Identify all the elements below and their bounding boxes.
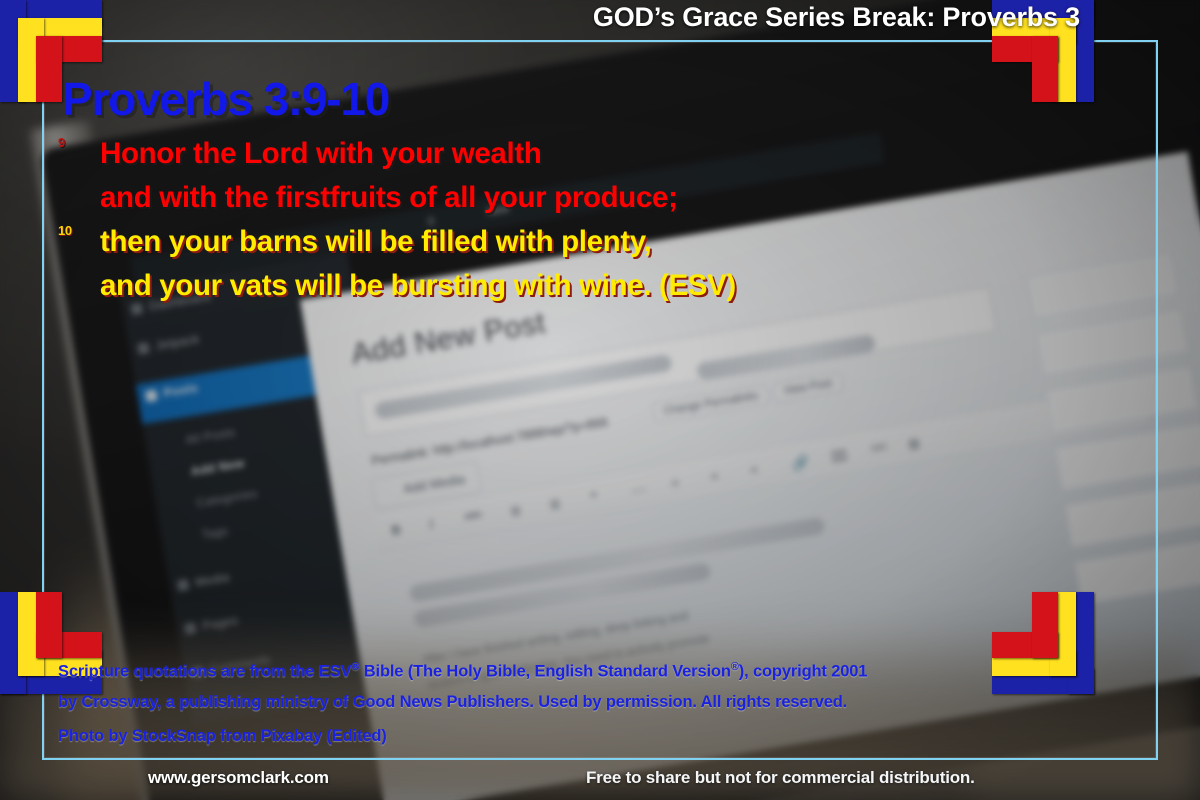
- scripture-verse-block: 9 Honor the Lord with your wealth and wi…: [58, 132, 1138, 308]
- verse-line: 10 then your barns will be filled with p…: [58, 220, 1138, 264]
- share-notice-label: Free to share but not for commercial dis…: [586, 768, 975, 788]
- verse-text: and your vats will be bursting with wine…: [58, 264, 736, 308]
- credits-photo-attribution: Photo by StockSnap from Pixabay (Edited): [58, 721, 1118, 751]
- verse-line: and with the firstfruits of all your pro…: [58, 176, 1138, 220]
- credits-line-2: by Crossway, a publishing ministry of Go…: [58, 687, 1118, 717]
- verse-number: 10: [58, 224, 72, 237]
- credits-esv-c: ), copyright 2001: [739, 663, 868, 681]
- verse-text: then your barns will be filled with plen…: [58, 220, 652, 264]
- verse-number: 9: [58, 136, 65, 149]
- verse-text: Honor the Lord with your wealth: [58, 132, 541, 176]
- corner-bracket-top-right: [1094, 0, 1200, 106]
- verse-line: 9 Honor the Lord with your wealth: [58, 132, 1138, 176]
- slide-header-title: GOD’s Grace Series Break: Proverbs 3: [593, 2, 1080, 33]
- scripture-reference: Proverbs 3:9-10: [62, 72, 389, 126]
- copyright-credits: Scripture quotations are from the ESV® B…: [58, 652, 1118, 751]
- verse-line: and your vats will be bursting with wine…: [58, 264, 1138, 308]
- credits-esv-b: Bible (The Holy Bible, English Standard …: [359, 663, 730, 681]
- credits-esv-a: Scripture quotations are from the ESV: [58, 663, 351, 681]
- site-url-label: www.gersomclark.com: [148, 768, 329, 788]
- slide-footer: www.gersomclark.com Free to share but no…: [0, 762, 1200, 800]
- registered-mark-icon: ®: [731, 661, 739, 673]
- credits-line-1: Scripture quotations are from the ESV® B…: [58, 652, 1118, 687]
- verse-text: and with the firstfruits of all your pro…: [58, 176, 678, 220]
